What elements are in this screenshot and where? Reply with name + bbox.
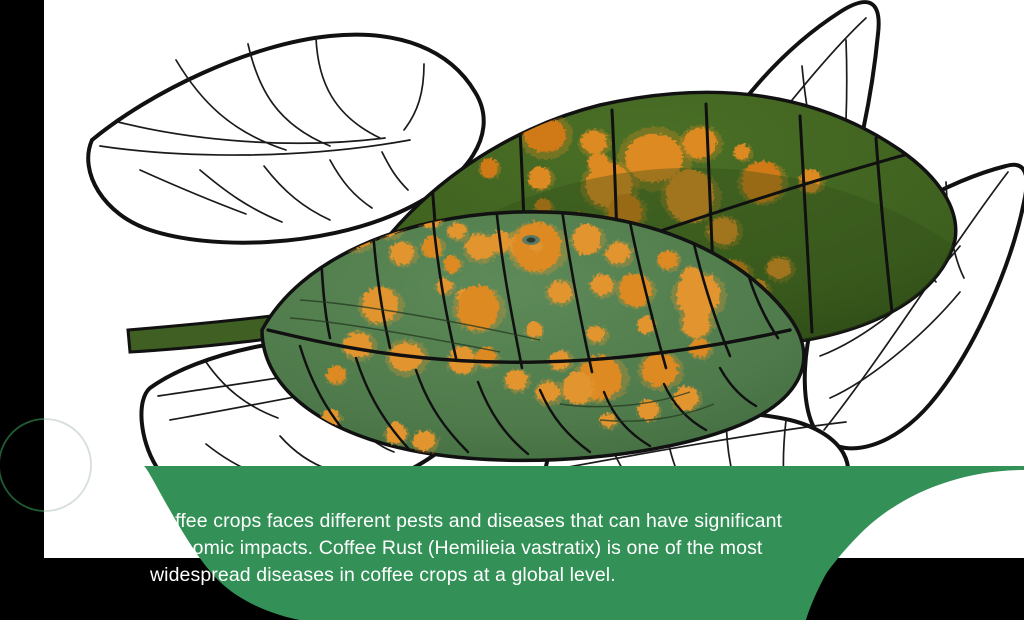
- green-banner-right-fade: [700, 466, 1024, 620]
- poster-canvas: Coffee crops faces different pests and d…: [0, 0, 1024, 620]
- green-banner-layer: [0, 0, 1024, 620]
